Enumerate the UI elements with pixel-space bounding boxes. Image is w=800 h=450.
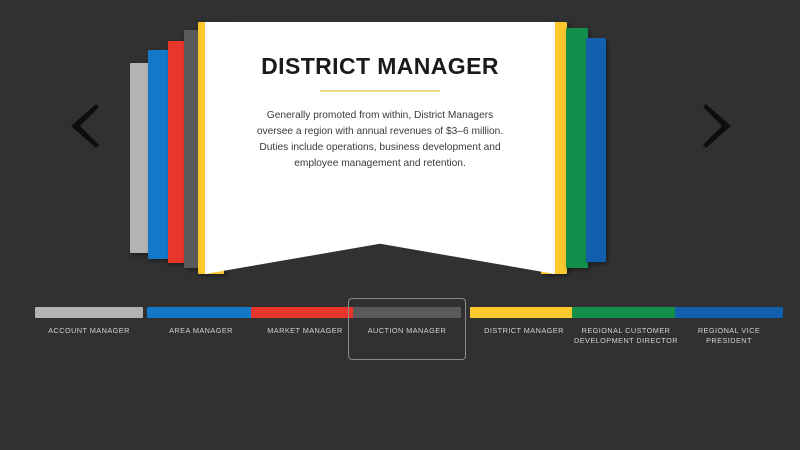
tab-color-swatch [35, 307, 143, 318]
stack-card-regional-vice-president[interactable] [586, 38, 606, 262]
tab-label: DISTRICT MANAGER [470, 326, 578, 336]
tab-color-swatch [572, 307, 680, 318]
card-description: Generally promoted from within, District… [233, 108, 527, 171]
active-role-card: DISTRICT MANAGER Generally promoted from… [205, 22, 555, 274]
tab-area-manager[interactable]: AREA MANAGER [142, 298, 260, 343]
tab-label: ACCOUNT MANAGER [35, 326, 143, 336]
tab-color-swatch [147, 307, 255, 318]
card-title: DISTRICT MANAGER [233, 54, 527, 79]
tab-color-swatch [675, 307, 783, 318]
role-tab-strip: ACCOUNT MANAGERAREA MANAGERMARKET MANAGE… [0, 298, 800, 370]
title-divider [320, 90, 440, 92]
chevron-right-icon[interactable] [692, 96, 744, 156]
tab-district-manager[interactable]: DISTRICT MANAGER [465, 298, 583, 343]
tab-auction-manager[interactable]: AUCTION MANAGER [348, 298, 466, 360]
tab-account-manager[interactable]: ACCOUNT MANAGER [30, 298, 148, 343]
tab-color-swatch [353, 307, 461, 318]
stack-card-regional-customer-development-director[interactable] [566, 28, 588, 268]
tab-regional-customer-development-director[interactable]: REGIONAL CUSTOMER DEVELOPMENT DIRECTOR [567, 298, 685, 353]
tab-label: MARKET MANAGER [251, 326, 359, 336]
tab-regional-vice-president[interactable]: REGIONAL VICE PRESIDENT [670, 298, 788, 353]
career-ladder-carousel: DISTRICT MANAGER Generally promoted from… [0, 0, 800, 290]
tab-color-swatch [470, 307, 578, 318]
tab-market-manager[interactable]: MARKET MANAGER [246, 298, 364, 343]
carousel-page: DISTRICT MANAGER Generally promoted from… [0, 0, 800, 450]
tab-color-swatch [251, 307, 359, 318]
tab-label: REGIONAL VICE PRESIDENT [675, 326, 783, 346]
tab-label: REGIONAL CUSTOMER DEVELOPMENT DIRECTOR [572, 326, 680, 346]
chevron-left-icon[interactable] [58, 96, 110, 156]
tab-label: AREA MANAGER [147, 326, 255, 336]
tab-label: AUCTION MANAGER [353, 326, 461, 336]
